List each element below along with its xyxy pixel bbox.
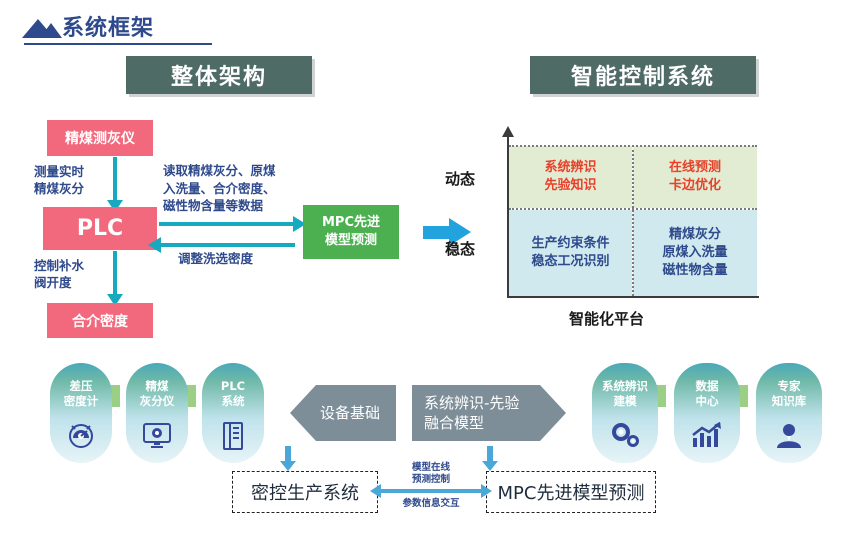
label-online-model-prediction-control: 模型在线 预测控制: [381, 462, 481, 486]
cell-line-2: 原煤入洗量: [662, 244, 727, 262]
cell-line-3: 磁性物含量: [662, 262, 727, 280]
bar-chart-trend-icon: [674, 421, 740, 453]
capsule-system-identification-modeling: 系统辨识 建模: [592, 363, 658, 463]
axis-label-platform: 智能化平台: [569, 308, 644, 329]
label-line-1: 控制补水: [34, 258, 84, 275]
monitor-analyzer-icon: [126, 421, 188, 453]
node-medium-density: 合介密度: [47, 303, 153, 338]
arrow-down-to-density-control: [285, 446, 291, 462]
mpc-label-line-2: 模型预测: [322, 232, 380, 250]
cell-line-1: 精煤灰分: [662, 226, 727, 244]
box-mpc-advanced-model-prediction: MPC先进模型预测: [486, 471, 656, 513]
arrow-bidirectional-exchange: [381, 489, 481, 493]
label-line-1: 模型在线: [381, 462, 481, 474]
chevron-label-line-1: 系统辨识-先验: [424, 393, 519, 413]
capsule-label-line-2: 系统: [202, 394, 264, 409]
node-mpc-advanced-model: MPC先进 模型预测: [303, 205, 399, 259]
cell-line-2: 卡边优化: [669, 177, 721, 195]
cell-line-2: 稳态工况识别: [531, 253, 609, 271]
axis-label-dynamic: 动态: [445, 168, 475, 189]
server-cabinet-icon: [202, 421, 264, 455]
cell-line-1: 系统辨识: [544, 159, 596, 177]
x-axis: [507, 296, 759, 298]
label-parameter-info-exchange: 参数信息交互: [381, 498, 481, 510]
label-line-2: 入洗量、合介密度、: [163, 180, 276, 198]
capsule-differential-pressure-densitometer: 差压 密度计: [50, 363, 112, 463]
quadrant-chart: 系统辨识 先验知识 在线预测 卡边优化 生产约束条件 稳态工况识别 精煤灰分 原…: [507, 120, 759, 298]
quadrant-cell-bottom-left: 生产约束条件 稳态工况识别: [509, 210, 632, 296]
arrow-down-to-mpc-box: [487, 446, 493, 462]
capsule-plc-system: PLC 系统: [202, 363, 264, 463]
capsule-label: 精煤 灰分仪: [126, 379, 188, 409]
axis-label-steady: 稳态: [445, 238, 475, 259]
label-measure-realtime-ash: 测量实时 精煤灰分: [34, 164, 84, 198]
capsule-group-right: 系统辨识 建模 数据 中心 专家 知识库: [588, 363, 832, 467]
mpc-label-line-1: MPC先进: [322, 214, 380, 232]
arrow-plc-to-mpc: [159, 222, 293, 226]
label-control-water-valve: 控制补水 阀开度: [34, 258, 84, 292]
capsule-label: 差压 密度计: [50, 379, 112, 409]
quadrant-cell-bottom-right: 精煤灰分 原煤入洗量 磁性物含量: [633, 210, 757, 296]
expert-person-icon: [756, 421, 822, 453]
capsule-label-line-2: 知识库: [756, 394, 822, 409]
capsule-data-center: 数据 中心: [674, 363, 740, 463]
node-plc: PLC: [43, 207, 157, 250]
label-line-1: 测量实时: [34, 164, 84, 181]
arrow-plc-to-density: [113, 251, 117, 295]
gears-icon: [592, 421, 658, 453]
quadrant-cell-top-left: 系统辨识 先验知识: [509, 146, 632, 208]
cell-line-1: 生产约束条件: [531, 235, 609, 253]
capsule-label-line-1: 差压: [50, 379, 112, 394]
section-title-intelligent-control-system: 智能控制系统: [530, 56, 756, 94]
chevron-equipment-foundation: 设备基础: [290, 385, 396, 441]
quadrant-cell-top-right: 在线预测 卡边优化: [633, 146, 757, 208]
label-read-data: 读取精煤灰分、原煤 入洗量、合介密度、 磁性物含量等数据: [163, 162, 276, 215]
capsule-label-line-1: PLC: [202, 379, 264, 394]
capsule-group-left: 差压 密度计 精煤 灰分仪 PLC 系统: [48, 363, 278, 467]
capsule-label: PLC 系统: [202, 379, 264, 409]
capsule-label-line-2: 密度计: [50, 394, 112, 409]
label-line-1: 读取精煤灰分、原煤: [163, 162, 276, 180]
node-ash-meter: 精煤测灰仪: [47, 120, 153, 156]
title-underline: [24, 43, 212, 45]
page-title: 系统框架: [62, 10, 154, 42]
arrow-mpc-to-plc: [161, 243, 295, 247]
gridline-center: [632, 145, 634, 296]
capsule-label-line-1: 系统辨识: [592, 379, 658, 394]
page-header: 系统框架: [22, 10, 212, 44]
capsule-label-line-1: 精煤: [126, 379, 188, 394]
chevron-identification-fusion-model: 系统辨识-先验 融合模型: [412, 385, 566, 441]
label-line-2: 精煤灰分: [34, 181, 84, 198]
label-adjust-washing-density: 调整洗选密度: [178, 248, 253, 267]
gauge-icon: [50, 421, 112, 453]
capsule-label-line-2: 建模: [592, 394, 658, 409]
capsule-label: 专家 知识库: [756, 379, 822, 409]
cell-line-2: 先验知识: [544, 177, 596, 195]
capsule-label-line-1: 数据: [674, 379, 740, 394]
capsule-label: 数据 中心: [674, 379, 740, 409]
mountain-peak-icon: [40, 23, 62, 38]
capsule-label-line-2: 灰分仪: [126, 394, 188, 409]
arrow-ash-to-plc: [113, 157, 117, 201]
capsule-expert-knowledge-base: 专家 知识库: [756, 363, 822, 463]
section-title-overall-architecture: 整体架构: [126, 56, 312, 94]
box-density-control-production-system: 密控生产系统: [232, 471, 378, 513]
capsule-clean-coal-ash-analyzer: 精煤 灰分仪: [126, 363, 188, 463]
cell-line-1: 在线预测: [669, 159, 721, 177]
capsule-label: 系统辨识 建模: [592, 379, 658, 409]
label-line-3: 磁性物含量等数据: [163, 197, 276, 215]
label-line-2: 阀开度: [34, 275, 84, 292]
chevron-label-line-2: 融合模型: [424, 413, 519, 433]
capsule-label-line-1: 专家: [756, 379, 822, 394]
capsule-label-line-2: 中心: [674, 394, 740, 409]
label-line-2: 预测控制: [381, 474, 481, 486]
